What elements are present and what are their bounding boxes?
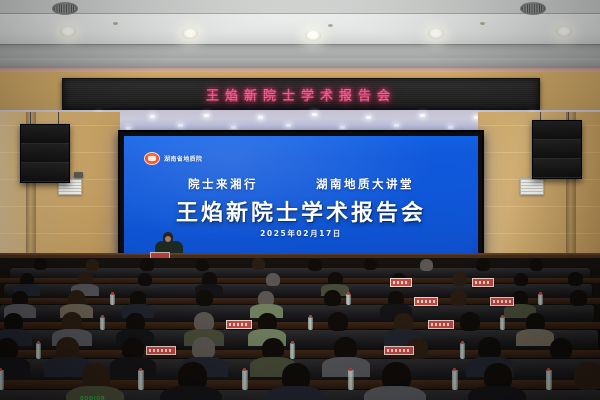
name-card: [226, 320, 252, 329]
water-bottle: [546, 370, 552, 390]
water-bottle: [138, 370, 144, 390]
ceiling-vent-icon: [520, 2, 546, 15]
ceiling-downlight: [60, 26, 76, 37]
water-bottle: [290, 343, 295, 359]
ceiling-seam: [0, 13, 600, 14]
ceiling-vent-icon: [52, 2, 78, 15]
water-bottle: [348, 370, 354, 390]
ceiling: [0, 0, 600, 62]
institute-emblem-icon: [144, 152, 160, 165]
smoke-detector-icon: [480, 22, 485, 25]
water-bottle: [500, 317, 505, 330]
led-banner-board: 王焰新院士学术报告会: [62, 78, 540, 110]
presentation-screen-frame: 湖南省地质院 院士来湘行 湖南地质大讲堂 王焰新院士学术报告会 2025年02月…: [118, 130, 484, 264]
ceiling-slab: [0, 14, 600, 44]
water-bottle: [100, 317, 105, 330]
name-card: [490, 297, 514, 306]
ceiling-downlight: [305, 30, 321, 41]
name-card: [390, 278, 412, 287]
water-bottle: [308, 317, 313, 330]
water-bottle: [346, 294, 351, 305]
slide-subtitle-left: 院士来湘行: [188, 176, 258, 192]
smoke-detector-icon: [113, 22, 118, 25]
water-bottle: [36, 343, 41, 359]
slide-subtitle-row: 院士来湘行 湖南地质大讲堂: [124, 176, 478, 192]
slide-subtitle-right: 湖南地质大讲堂: [316, 176, 414, 192]
water-bottle: [110, 294, 115, 305]
audience-area: BODIOR: [0, 258, 600, 400]
ceiling-downlight: [428, 28, 444, 39]
line-array-speaker: [20, 124, 70, 183]
jacket-print: BODIOR: [80, 396, 105, 400]
institute-wordmark: 湖南省地质院: [164, 154, 202, 163]
water-bottle: [538, 294, 543, 305]
name-card: [146, 346, 176, 355]
ceiling-seam: [0, 44, 600, 45]
water-bottle: [452, 370, 458, 390]
smoke-detector-icon: [328, 24, 333, 27]
ceiling-downlight: [182, 28, 198, 39]
water-bottle: [460, 343, 465, 359]
name-card: [428, 320, 454, 329]
wall-camera-icon: [74, 172, 83, 178]
slide-title: 王焰新院士学术报告会: [124, 195, 478, 227]
water-bottle: [242, 370, 248, 390]
presentation-screen: 湖南省地质院 院士来湘行 湖南地质大讲堂 王焰新院士学术报告会 2025年02月…: [124, 136, 478, 258]
led-banner-text: 王焰新院士学术报告会: [206, 85, 396, 104]
name-card: [472, 278, 494, 287]
conference-hall-photo: 王焰新院士学术报告会: [0, 0, 600, 400]
slide-logo: 湖南省地质院: [144, 152, 202, 165]
air-vent-icon: [520, 178, 544, 195]
line-array-speaker: [532, 120, 582, 179]
name-card: [414, 297, 438, 306]
ceiling-downlight: [556, 26, 572, 37]
water-bottle: [0, 370, 4, 390]
name-card: [384, 346, 414, 355]
